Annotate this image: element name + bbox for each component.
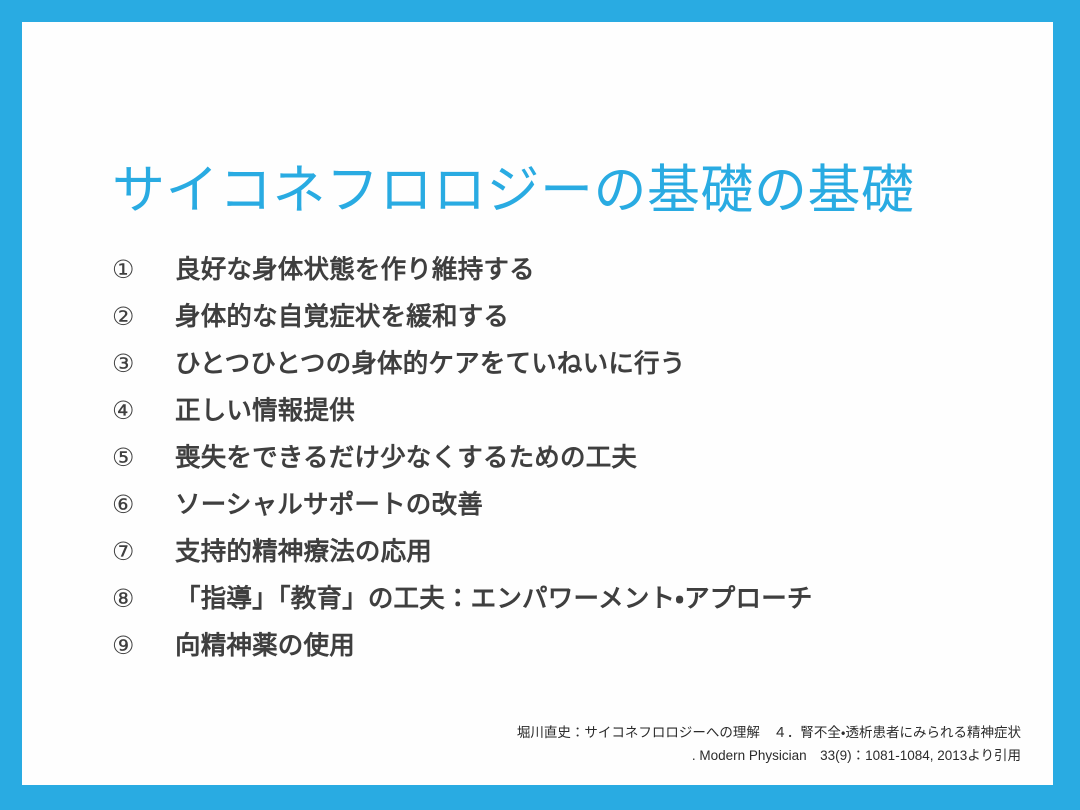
list-marker-5: ⑤ xyxy=(112,446,175,471)
list-marker-9: ⑨ xyxy=(112,634,175,659)
list-item: ① 良好な身体状態を作り維持する xyxy=(112,258,1032,305)
list-item: ⑦ 支持的精神療法の応用 xyxy=(112,540,1032,587)
slide-frame: サイコネフロロジーの基礎の基礎 ① 良好な身体状態を作り維持する ② 身体的な自… xyxy=(0,0,1080,810)
list-item-text-1: 良好な身体状態を作り維持する xyxy=(175,258,1032,284)
page-title: サイコネフロロジーの基礎の基礎 xyxy=(112,162,1012,220)
citation-footer: 堀川直史：サイコネフロロジーへの理解 ４．腎不全・透析患者にみられる精神症状 .… xyxy=(517,722,1021,767)
list-item: ③ ひとつひとつの身体的ケアをていねいに行う xyxy=(112,352,1032,399)
list-item: ⑥ ソーシャルサポートの改善 xyxy=(112,493,1032,540)
citation-line-1: 堀川直史：サイコネフロロジーへの理解 ４．腎不全・透析患者にみられる精神症状 xyxy=(517,722,1021,744)
list-marker-7: ⑦ xyxy=(112,540,175,565)
list-marker-2: ② xyxy=(112,305,175,330)
citation-line-2: . Modern Physician 33(9)：1081-1084, 2013… xyxy=(517,745,1021,767)
list-item-text-7: 支持的精神療法の応用 xyxy=(175,540,1032,566)
list-item: ② 身体的な自覚症状を緩和する xyxy=(112,305,1032,352)
list-item: ⑧ 「指導」「教育」の工夫：エンパワーメント・アプローチ xyxy=(112,587,1032,634)
list-item-text-6: ソーシャルサポートの改善 xyxy=(175,493,1032,519)
list-item-text-4: 正しい情報提供 xyxy=(175,399,1032,425)
list-item-text-3: ひとつひとつの身体的ケアをていねいに行う xyxy=(175,352,1032,378)
list-marker-1: ① xyxy=(112,258,175,283)
list-marker-8: ⑧ xyxy=(112,587,175,612)
slide-canvas: サイコネフロロジーの基礎の基礎 ① 良好な身体状態を作り維持する ② 身体的な自… xyxy=(22,22,1053,785)
list-item-text-8: 「指導」「教育」の工夫：エンパワーメント・アプローチ xyxy=(175,587,1032,613)
list-item: ⑨ 向精神薬の使用 xyxy=(112,634,1032,681)
list-item-text-9: 向精神薬の使用 xyxy=(175,634,1032,660)
list-item: ⑤ 喪失をできるだけ少なくするための工夫 xyxy=(112,446,1032,493)
list-marker-3: ③ xyxy=(112,352,175,377)
list-marker-4: ④ xyxy=(112,399,175,424)
list-item-text-5: 喪失をできるだけ少なくするための工夫 xyxy=(175,446,1032,472)
list-item-text-2: 身体的な自覚症状を緩和する xyxy=(175,305,1032,331)
bullet-list: ① 良好な身体状態を作り維持する ② 身体的な自覚症状を緩和する ③ ひとつひと… xyxy=(112,258,1032,681)
list-item: ④ 正しい情報提供 xyxy=(112,399,1032,446)
list-marker-6: ⑥ xyxy=(112,493,175,518)
